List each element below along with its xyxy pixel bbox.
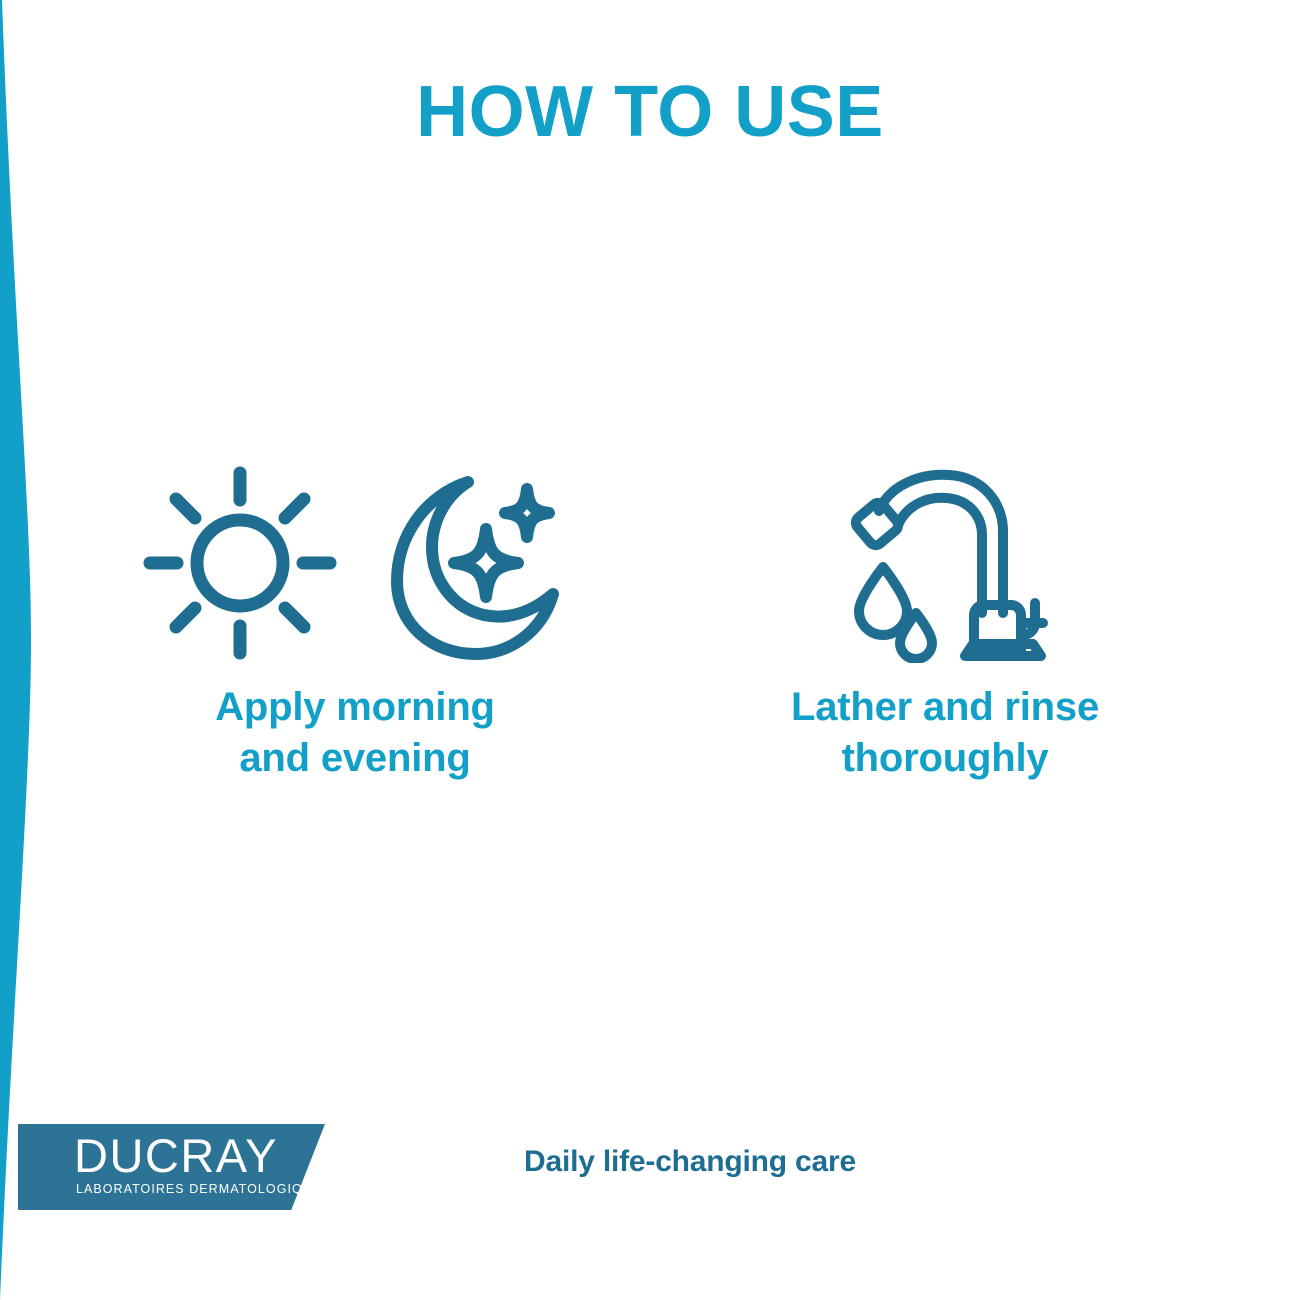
step-1-caption-line-2: and evening	[215, 733, 495, 784]
step-2-caption-line-1: Lather and rinse	[791, 682, 1099, 733]
step-2-icon-group	[843, 455, 1048, 670]
moon-stars-icon	[385, 465, 570, 660]
step-2-caption: Lather and rinse thoroughly	[791, 682, 1099, 784]
step-1-caption: Apply morning and evening	[215, 682, 495, 784]
sun-icon	[140, 463, 340, 663]
brand-wordmark: DUCRAY	[74, 1132, 278, 1179]
step-1-icon-group	[140, 455, 570, 670]
page-title: HOW TO USE	[0, 75, 1300, 151]
step-2-caption-line-2: thoroughly	[791, 733, 1099, 784]
ducray-logo-banner: DUCRAY LABORATOIRES DERMATOLOGIQUES	[18, 1124, 325, 1210]
brand-tagline: Daily life-changing care	[360, 1145, 1020, 1179]
step-lather-and-rinse: Lather and rinse thoroughly	[725, 455, 1165, 784]
brand-subtitle: LABORATOIRES DERMATOLOGIQUES	[76, 1182, 332, 1196]
left-cyan-arc	[0, 0, 60, 1300]
faucet-water-icon	[843, 463, 1048, 663]
steps-row: Apply morning and evening	[60, 455, 1240, 784]
step-1-caption-line-1: Apply morning	[215, 682, 495, 733]
poster-canvas: HOW TO USE	[0, 0, 1300, 1300]
step-apply-morning-and-evening: Apply morning and evening	[135, 455, 575, 784]
